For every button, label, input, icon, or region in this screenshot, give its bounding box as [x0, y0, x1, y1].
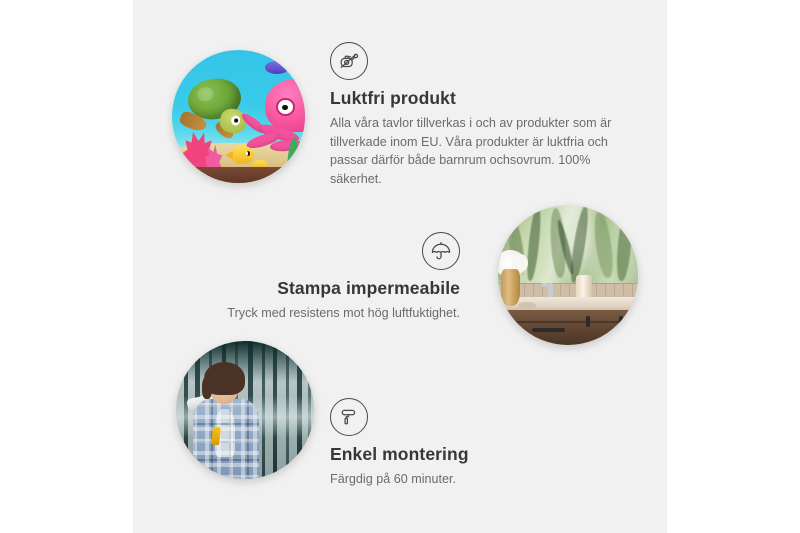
umbrella-icon	[422, 232, 460, 270]
turtle-eye	[230, 114, 241, 126]
feature-image-2	[498, 205, 638, 345]
feature-text: Tryck med resistens mot hög luftfuktighe…	[180, 304, 460, 323]
wood-vanity	[498, 310, 638, 345]
feature-image-3	[176, 341, 314, 479]
purple-fish	[265, 61, 289, 74]
feature-text: Färgdig på 60 minuter.	[330, 470, 580, 489]
forest-mural-scene	[176, 341, 314, 479]
woman-torso	[193, 399, 259, 479]
paint-roller-icon	[330, 398, 368, 436]
feature-title: Luktfri produkt	[330, 88, 620, 109]
feature-title: Enkel montering	[330, 444, 580, 465]
feature-block-3: Enkel montering Färgdig på 60 minuter.	[330, 398, 580, 489]
forest-canopy	[176, 341, 314, 382]
underwater-scene	[172, 50, 305, 183]
feature-image-1	[172, 50, 305, 183]
woman-hair	[204, 362, 245, 395]
plaid-pattern	[193, 399, 259, 479]
bathroom-scene	[498, 205, 638, 345]
floor-band	[172, 167, 305, 183]
feature-block-1: Luktfri produkt Alla våra tavlor tillver…	[330, 42, 620, 189]
feature-title: Stampa impermeabile	[180, 278, 460, 299]
cabinet-handle	[619, 316, 623, 327]
soap-dish	[518, 302, 536, 309]
drawer-pull	[532, 328, 565, 332]
vase	[501, 269, 521, 305]
promo-infographic: Luktfri produkt Alla våra tavlor tillver…	[0, 0, 800, 533]
cabinet-handle	[586, 316, 590, 327]
vanity-seam	[498, 321, 638, 323]
feature-text: Alla våra tavlor tillverkas i och av pro…	[330, 114, 620, 189]
no-fragrance-icon	[330, 42, 368, 80]
octopus-eye	[276, 98, 295, 116]
feature-block-2: Stampa impermeabile Tryck med resistens …	[180, 232, 460, 323]
